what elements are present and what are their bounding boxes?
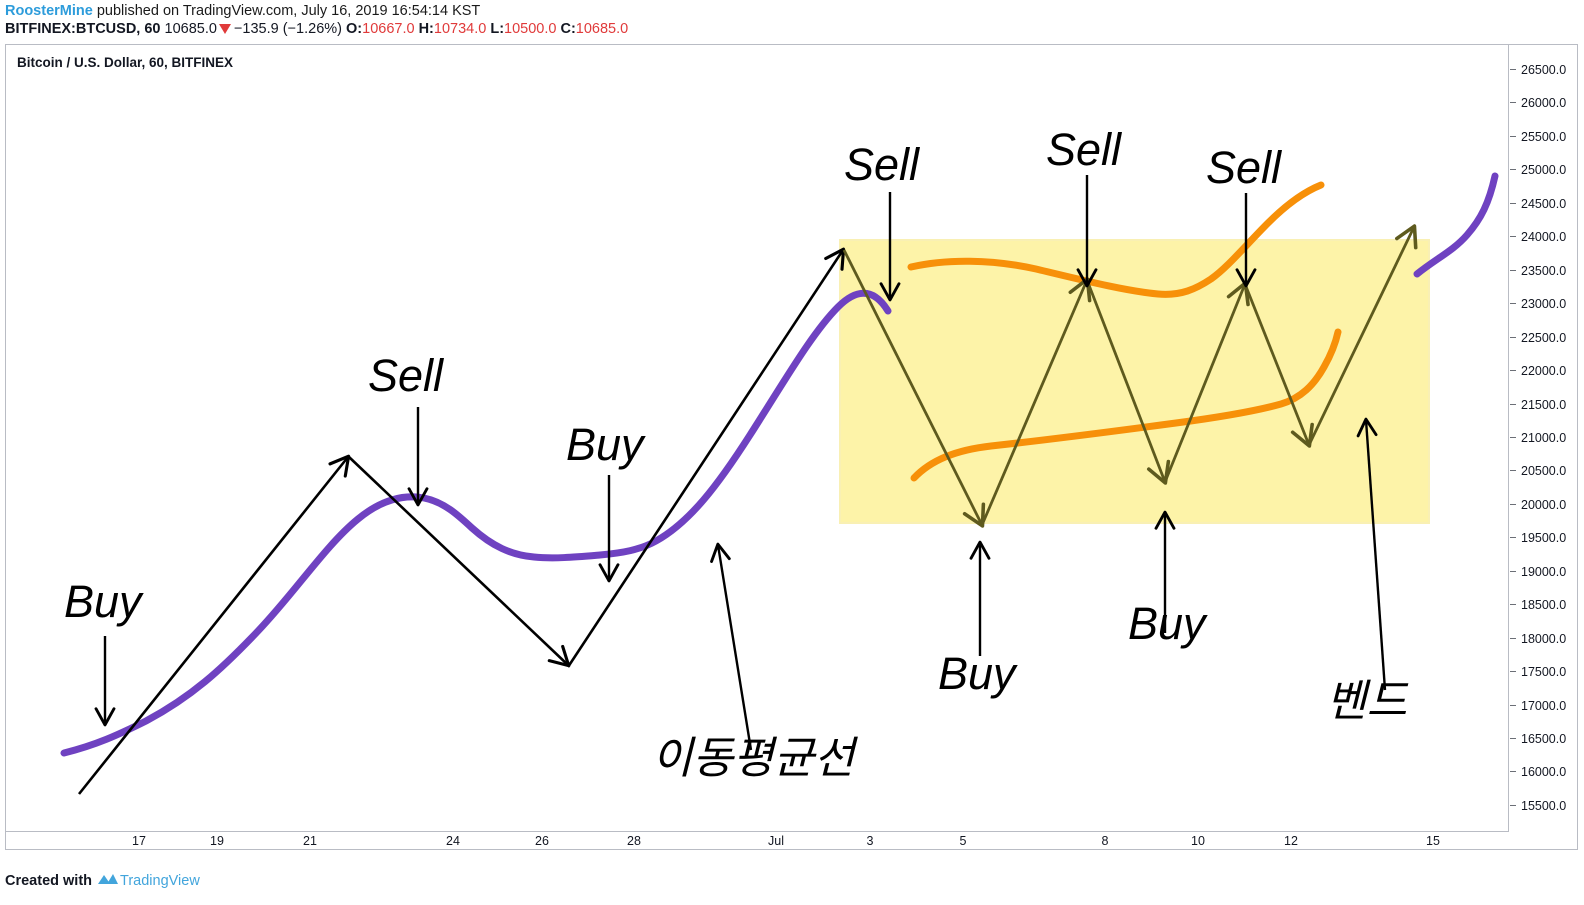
chart-header: RoosterMine published on TradingView.com… xyxy=(0,0,1584,40)
tick-dash-icon xyxy=(1510,638,1516,639)
created-with-label: Created with xyxy=(5,873,92,889)
tick-dash-icon xyxy=(1510,404,1516,405)
price-axis-tick: 21000.0 xyxy=(1510,431,1578,445)
price-axis-tick-label: 16000.0 xyxy=(1521,765,1566,779)
trend-down-arrow-1 xyxy=(349,457,568,665)
low-label: L: xyxy=(490,21,504,37)
down-triangle-icon xyxy=(219,24,231,34)
annotation-sell-1: Sell xyxy=(368,350,443,402)
tick-dash-icon xyxy=(1510,69,1516,70)
high-value: 10734.0 xyxy=(434,21,486,37)
price-axis-tick-label: 15500.0 xyxy=(1521,799,1566,813)
time-axis-tick-label: Jul xyxy=(768,834,784,848)
time-axis-tick-label: 17 xyxy=(132,834,146,848)
published-text: published on TradingView.com, July 16, 2… xyxy=(93,3,480,19)
time-axis-tick-label: 10 xyxy=(1191,834,1205,848)
tick-dash-icon xyxy=(1510,337,1516,338)
open-label: O: xyxy=(346,21,362,37)
price-axis-tick: 23500.0 xyxy=(1510,264,1578,278)
close-label: C: xyxy=(560,21,575,37)
annotation-buy-4: Buy xyxy=(1128,598,1206,650)
price-axis-tick: 21500.0 xyxy=(1510,398,1578,412)
price-axis-tick-label: 19000.0 xyxy=(1521,565,1566,579)
price-axis-tick: 25500.0 xyxy=(1510,130,1578,144)
tick-dash-icon xyxy=(1510,203,1516,204)
price-axis-tick: 26500.0 xyxy=(1510,63,1578,77)
price-axis-tick: 18500.0 xyxy=(1510,598,1578,612)
quote-line: BITFINEX:BTCUSD, 60 10685.0−135.9 (−1.26… xyxy=(5,21,628,37)
price-axis-tick-label: 24000.0 xyxy=(1521,230,1566,244)
tick-dash-icon xyxy=(1510,169,1516,170)
footer: Created withTradingView xyxy=(5,872,200,889)
tradingview-logo-icon xyxy=(97,872,119,887)
annotation-buy-2: Buy xyxy=(566,419,644,471)
annotation-band: 벤드 xyxy=(1326,665,1407,729)
plot-area[interactable]: Bitcoin / U.S. Dollar, 60, BITFINEX xyxy=(6,45,1509,832)
moving-average-line-left xyxy=(64,293,888,753)
annotation-buy-3: Buy xyxy=(938,648,1016,700)
price-axis-tick: 22500.0 xyxy=(1510,331,1578,345)
price-axis-tick: 26000.0 xyxy=(1510,96,1578,110)
time-axis-tick-label: 24 xyxy=(446,834,460,848)
price-axis-tick: 25000.0 xyxy=(1510,163,1578,177)
price-axis-tick-label: 26000.0 xyxy=(1521,96,1566,110)
time-axis[interactable]: 171921242628Jul358101215 xyxy=(6,833,1509,850)
tick-dash-icon xyxy=(1510,537,1516,538)
publisher-name[interactable]: RoosterMine xyxy=(5,3,93,19)
tick-dash-icon xyxy=(1510,671,1516,672)
tick-dash-icon xyxy=(1510,604,1516,605)
time-axis-tick-label: 5 xyxy=(960,834,967,848)
price-axis-tick: 20500.0 xyxy=(1510,464,1578,478)
tick-dash-icon xyxy=(1510,102,1516,103)
price-axis-tick-label: 18000.0 xyxy=(1521,632,1566,646)
tick-dash-icon xyxy=(1510,571,1516,572)
high-label: H: xyxy=(419,21,434,37)
price-axis-tick-label: 23000.0 xyxy=(1521,297,1566,311)
time-axis-tick-label: 21 xyxy=(303,834,317,848)
price-axis-tick: 17500.0 xyxy=(1510,665,1578,679)
price-axis-tick-label: 17500.0 xyxy=(1521,665,1566,679)
time-axis-tick-label: 28 xyxy=(627,834,641,848)
price-axis-tick-label: 24500.0 xyxy=(1521,197,1566,211)
annotation-sell-3: Sell xyxy=(1046,124,1121,176)
tick-dash-icon xyxy=(1510,705,1516,706)
price-axis-tick: 17000.0 xyxy=(1510,699,1578,713)
price-axis-tick: 24500.0 xyxy=(1510,197,1578,211)
price-axis-tick: 20000.0 xyxy=(1510,498,1578,512)
tick-dash-icon xyxy=(1510,805,1516,806)
tick-dash-icon xyxy=(1510,270,1516,271)
price-axis[interactable]: 26500.026000.025500.025000.024500.024000… xyxy=(1510,45,1578,832)
price-axis-tick-label: 21000.0 xyxy=(1521,431,1566,445)
chart-frame: Bitcoin / U.S. Dollar, 60, BITFINEX xyxy=(5,44,1578,850)
tick-dash-icon xyxy=(1510,771,1516,772)
annotation-buy-1: Buy xyxy=(64,576,142,628)
price-axis-tick: 22000.0 xyxy=(1510,364,1578,378)
tick-dash-icon xyxy=(1510,236,1516,237)
price-axis-tick-label: 18500.0 xyxy=(1521,598,1566,612)
tick-dash-icon xyxy=(1510,370,1516,371)
tick-dash-icon xyxy=(1510,470,1516,471)
price-axis-tick-label: 20000.0 xyxy=(1521,498,1566,512)
price-axis-tick-label: 25000.0 xyxy=(1521,163,1566,177)
time-axis-tick-label: 8 xyxy=(1102,834,1109,848)
price-axis-tick-label: 21500.0 xyxy=(1521,398,1566,412)
price-axis-tick: 23000.0 xyxy=(1510,297,1578,311)
price-change: −135.9 (−1.26%) xyxy=(234,21,342,37)
last-price: 10685.0 xyxy=(165,21,217,37)
low-value: 10500.0 xyxy=(504,21,556,37)
price-axis-tick: 18000.0 xyxy=(1510,632,1578,646)
tradingview-brand[interactable]: TradingView xyxy=(120,873,200,889)
tick-dash-icon xyxy=(1510,136,1516,137)
time-axis-tick-label: 12 xyxy=(1284,834,1298,848)
open-value: 10667.0 xyxy=(362,21,414,37)
price-axis-tick: 19500.0 xyxy=(1510,531,1578,545)
pointer-ma-label xyxy=(718,545,751,750)
time-axis-tick-label: 26 xyxy=(535,834,549,848)
time-axis-tick-label: 3 xyxy=(867,834,874,848)
tick-dash-icon xyxy=(1510,303,1516,304)
price-axis-tick-label: 22500.0 xyxy=(1521,331,1566,345)
price-axis-tick: 16500.0 xyxy=(1510,732,1578,746)
close-value: 10685.0 xyxy=(576,21,628,37)
tick-dash-icon xyxy=(1510,504,1516,505)
chart-drawing-layer xyxy=(6,45,1509,832)
symbol-label[interactable]: BITFINEX:BTCUSD, 60 xyxy=(5,21,161,37)
annotation-moving-average: 이동평균선 xyxy=(652,722,854,786)
price-axis-tick-label: 26500.0 xyxy=(1521,63,1566,77)
annotation-sell-2: Sell xyxy=(844,139,919,191)
price-axis-tick-label: 19500.0 xyxy=(1521,531,1566,545)
tick-dash-icon xyxy=(1510,738,1516,739)
price-axis-tick-label: 20500.0 xyxy=(1521,464,1566,478)
tick-dash-icon xyxy=(1510,437,1516,438)
publisher-line: RoosterMine published on TradingView.com… xyxy=(5,3,480,19)
price-axis-tick-label: 22000.0 xyxy=(1521,364,1566,378)
price-axis-tick: 16000.0 xyxy=(1510,765,1578,779)
time-axis-tick-label: 19 xyxy=(210,834,224,848)
price-axis-tick: 19000.0 xyxy=(1510,565,1578,579)
price-axis-tick-label: 23500.0 xyxy=(1521,264,1566,278)
price-axis-tick-label: 25500.0 xyxy=(1521,130,1566,144)
annotation-sell-4: Sell xyxy=(1206,142,1281,194)
time-axis-tick-label: 15 xyxy=(1426,834,1440,848)
price-axis-tick-label: 16500.0 xyxy=(1521,732,1566,746)
price-axis-tick: 15500.0 xyxy=(1510,799,1578,813)
price-axis-tick: 24000.0 xyxy=(1510,230,1578,244)
price-axis-tick-label: 17000.0 xyxy=(1521,699,1566,713)
